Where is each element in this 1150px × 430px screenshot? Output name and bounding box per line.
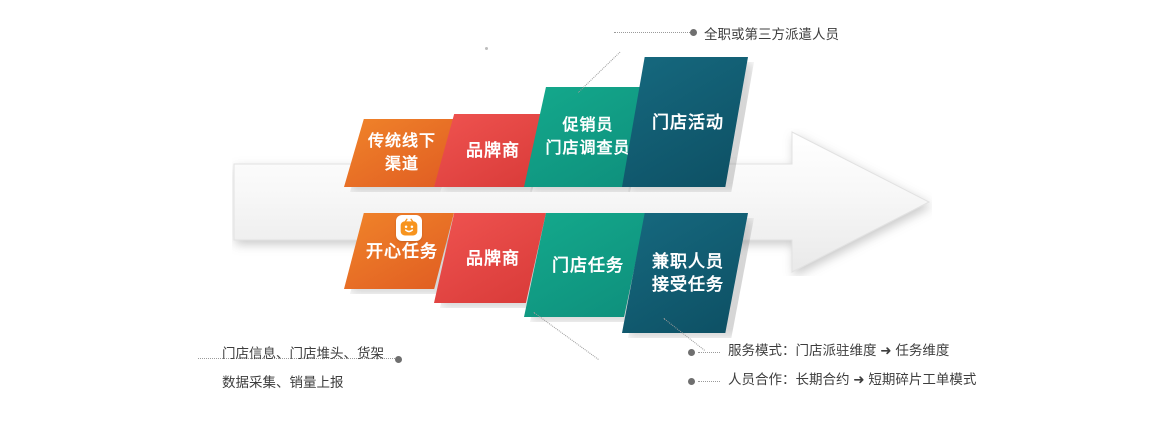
decorative-dot [485, 47, 488, 50]
connector-dot-bottom-right-1 [688, 349, 695, 356]
annotation-bottom-left-line1: 门店信息、门店堆头、货架 [222, 341, 384, 367]
tile-part-time-accept-task-label: 兼职人员 接受任务 [646, 250, 724, 296]
tile-traditional-offline-channel-label: 传统线下 渠道 [362, 130, 436, 176]
tile-happy-task-label: 开心任务 [360, 240, 438, 263]
tile-brand-owner-bottom-label: 品牌商 [460, 247, 520, 270]
annotation-top-right: 全职或第三方派遣人员 [704, 22, 839, 48]
connector-dot-top-right [690, 29, 697, 36]
tile-store-task-label: 门店任务 [546, 254, 624, 277]
diagram-canvas: 门店活动 促销员 门店调查员 品牌商 传统线下 渠道 兼职人员 接受任务 门店任… [0, 0, 1150, 430]
annotation-bottom-right-line2: 人员合作：长期合约 ➜ 短期碎片工单模式 [728, 367, 976, 393]
annotation-bottom-left-line2: 数据采集、销量上报 [222, 370, 344, 396]
annotation-bottom-right-line1: 服务模式：门店派驻维度 ➜ 任务维度 [728, 338, 949, 364]
connector-top-right-diagonal [578, 52, 620, 93]
connector-dot-bottom-left [395, 356, 402, 363]
tile-promoter-store-surveyor-label: 促销员 门店调查员 [539, 114, 630, 160]
connector-bottom-right-horizontal-2 [698, 381, 720, 382]
connector-bottom-right-horizontal-1 [698, 352, 720, 353]
connector-dot-bottom-right-2 [688, 378, 695, 385]
tile-brand-owner-top-label: 品牌商 [460, 139, 520, 162]
tile-store-activity-label: 门店活动 [646, 111, 724, 134]
connector-top-right-horizontal [614, 32, 694, 33]
smiley-icon [396, 215, 422, 241]
